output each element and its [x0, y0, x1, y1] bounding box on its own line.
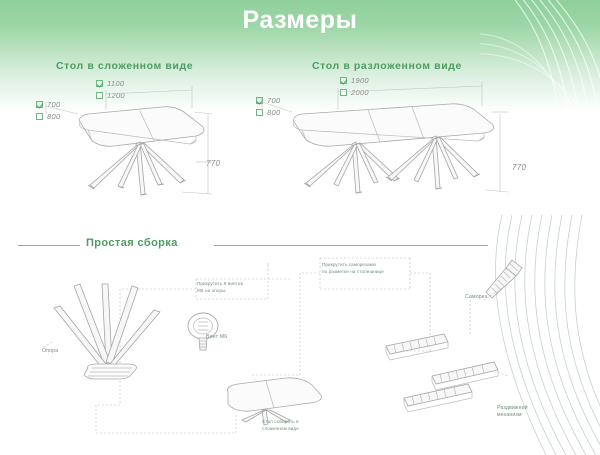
divider-line-right [214, 245, 488, 246]
header-banner: Размеры [0, 0, 600, 46]
unfolded-height-value: 770 [512, 163, 526, 172]
folded-table-drawing [44, 84, 244, 214]
bolt-m6-drawing [180, 310, 226, 352]
page-title: Размеры [0, 6, 600, 35]
part-label-mechanism: Раздвижной механизм [497, 405, 553, 420]
callout-screws-instruction: Прикрутить 8 винтов М6 на опоры [197, 281, 269, 294]
section-title-unfolded: Стол в разложенном виде [312, 60, 462, 72]
part-label-bolt: Винт М6 [206, 334, 227, 341]
screw-drawing [482, 258, 528, 302]
callout-fold-note: Стол собирать в сложенном виде [262, 419, 328, 432]
assembly-title: Простая сборка [86, 237, 178, 249]
support-legs-drawing [36, 280, 186, 400]
unfolded-table-drawing [260, 80, 510, 215]
checkbox-unchecked-icon[interactable] [36, 113, 43, 120]
checkbox-checked-icon[interactable] [36, 101, 43, 108]
part-label-screw: Саморез [465, 294, 487, 301]
section-title-folded: Стол в сложенном виде [56, 60, 193, 72]
part-label-support: Опора [42, 348, 58, 355]
page-root: Размеры Стол [0, 0, 600, 440]
slide-mechanism-drawing [382, 332, 512, 422]
assembly-section-header: Простая сборка [18, 238, 488, 252]
divider-line-left [18, 245, 80, 246]
callout-self-tapping-instruction: Прикрутить саморезами по разметке на сто… [322, 262, 402, 275]
